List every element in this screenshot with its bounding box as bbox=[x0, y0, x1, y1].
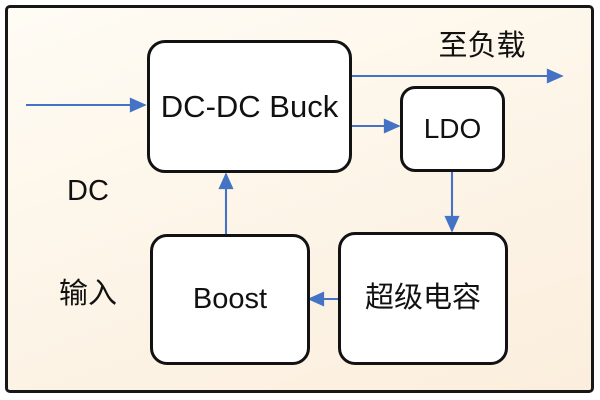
diagram-root: DC-DC Buck LDO Boost 超级电容 至负载 DC 输入 bbox=[0, 0, 600, 400]
block-label: DC-DC Buck bbox=[161, 91, 338, 122]
label-to-load: 至负载 bbox=[412, 30, 552, 62]
block-boost[interactable]: Boost bbox=[150, 234, 310, 365]
block-label: Boost bbox=[193, 285, 267, 314]
block-supercapacitor[interactable]: 超级电容 bbox=[338, 232, 508, 365]
block-ldo[interactable]: LDO bbox=[400, 86, 505, 172]
block-dc-dc-buck[interactable]: DC-DC Buck bbox=[147, 40, 352, 173]
label-dc-input: DC 输入 bbox=[28, 110, 148, 376]
block-label: LDO bbox=[424, 115, 482, 143]
block-label: 超级电容 bbox=[365, 284, 481, 313]
label-dc-input-line2: 输入 bbox=[28, 278, 148, 310]
label-dc-input-line1: DC bbox=[28, 175, 148, 207]
